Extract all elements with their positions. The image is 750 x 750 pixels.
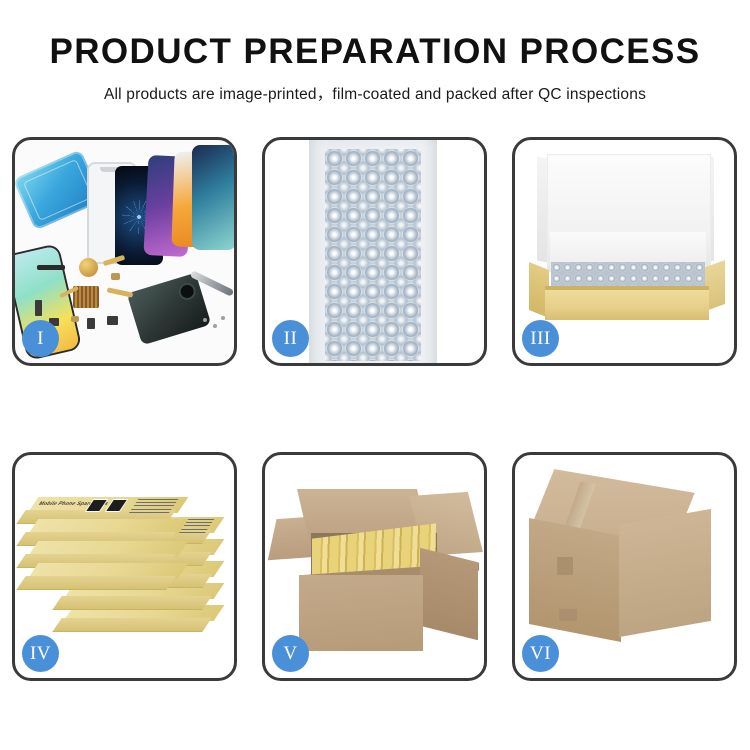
screw-3 xyxy=(221,316,225,320)
carton-front-wall xyxy=(299,575,423,651)
step-badge-1: I xyxy=(22,320,59,357)
steps-grid: I II II xyxy=(12,137,738,681)
step-badge-6: VI xyxy=(522,635,559,672)
carton-left-face xyxy=(529,518,621,642)
phone-back-housing xyxy=(127,273,212,346)
carton-flap-tab-bottom xyxy=(559,609,577,621)
battery-connector xyxy=(35,300,42,316)
camera-lens xyxy=(179,283,195,299)
carton-right-wall xyxy=(420,548,478,640)
step-badge-4: IV xyxy=(22,635,59,672)
step-badge-5: V xyxy=(272,635,309,672)
flex-cable-2 xyxy=(107,287,133,297)
carton-flap-tab-top xyxy=(557,557,573,575)
screw-1 xyxy=(203,318,207,322)
box-side-face xyxy=(52,596,211,610)
step-panel-bubble-wrap-pouch: II xyxy=(262,137,487,366)
step-panel-carton-filling: V xyxy=(262,452,487,681)
bubble-wrap-pouch xyxy=(309,140,437,363)
box-front-wall xyxy=(545,290,709,320)
box-side-face xyxy=(16,576,175,590)
button-flex xyxy=(107,316,118,325)
step-panel-sealed-carton: VI xyxy=(512,452,737,681)
header: PRODUCT PREPARATION PROCESS All products… xyxy=(0,0,750,104)
chip-1 xyxy=(111,273,120,280)
page-title: PRODUCT PREPARATION PROCESS xyxy=(0,34,750,71)
step-panel-inner-box-packing: III xyxy=(512,137,737,366)
page-subtitle: All products are image-printed，film-coat… xyxy=(0,82,750,104)
step-badge-2: II xyxy=(272,320,309,357)
phone-teal-gradient xyxy=(192,145,234,250)
chip-2 xyxy=(71,316,79,322)
step-panel-products-and-parts: I xyxy=(12,137,237,366)
vibration-motor xyxy=(79,258,98,277)
earpiece-mesh xyxy=(37,265,65,270)
sim-tray xyxy=(87,318,95,329)
step-badge-3: III xyxy=(522,320,559,357)
retail-box-left-4 xyxy=(33,563,183,589)
screw-2 xyxy=(213,324,217,328)
step-panel-stacked-retail-boxes: Mobile Phone Spare Parts Mobile Phone Sp… xyxy=(12,452,237,681)
infographic-page: PRODUCT PREPARATION PROCESS All products… xyxy=(0,0,750,750)
carton-right-face xyxy=(619,509,711,637)
pouch-seal-edges xyxy=(309,140,437,363)
box-side-face xyxy=(52,618,211,632)
